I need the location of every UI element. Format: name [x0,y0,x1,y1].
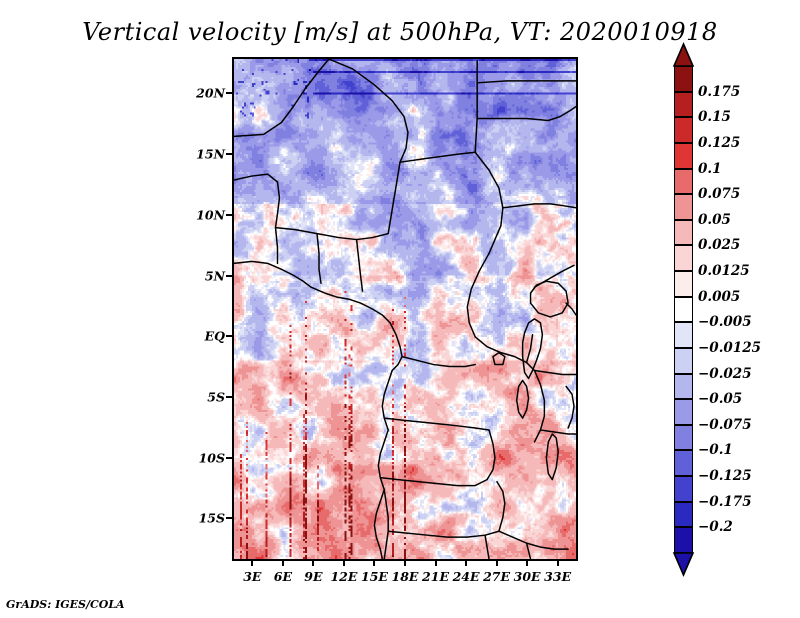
colorbar-band [674,245,693,271]
colorbar-band [674,450,693,476]
colorbar-band [674,348,693,374]
colorbar-band [674,194,693,220]
colorbar-band [674,399,693,425]
y-axis-tick-mark [226,335,232,337]
x-axis-tick-mark [404,561,406,566]
colorbar-min-arrow [674,553,693,575]
colorbar-band [674,527,693,553]
colorbar: 0.1750.150.1250.10.0750.050.0250.01250.0… [674,66,693,553]
colorbar-max-arrow [674,44,693,66]
colorbar-band [674,476,693,502]
x-axis-tick-mark [526,561,528,566]
colorbar-band [674,66,693,92]
colorbar-band [674,297,693,323]
x-axis-tick-mark [251,561,253,566]
plot-frame [232,57,578,561]
colorbar-tick-label: −0.175 [698,494,752,510]
x-axis-tick-mark [373,561,375,566]
x-axis-tick-mark [465,561,467,566]
colorbar-band [674,271,693,297]
colorbar-band [674,143,693,169]
y-axis-tick-mark [226,153,232,155]
colorbar-tick-label: 0.005 [698,289,740,305]
x-axis-tick-mark [282,561,284,566]
x-axis-tick-mark [435,561,437,566]
x-axis-tick-mark [496,561,498,566]
colorbar-tick-label: −0.125 [698,468,752,484]
country-borders-overlay [234,59,576,559]
x-axis-tick-mark [343,561,345,566]
x-axis-tick-mark [312,561,314,566]
colorbar-tick-label: −0.025 [698,366,752,382]
colorbar-tick-label: 0.05 [698,212,731,228]
colorbar-tick-label: −0.1 [698,442,733,458]
colorbar-band [674,425,693,451]
colorbar-band [674,169,693,195]
colorbar-band [674,502,693,528]
plot-area: 20N15N10N5NEQ5S10S15S3E6E9E12E15E18E21E2… [232,57,578,561]
y-axis-tick-mark [226,275,232,277]
colorbar-band [674,220,693,246]
colorbar-tick-label: −0.05 [698,391,742,407]
colorbar-tick-label: 0.1 [698,161,722,177]
page-title: Vertical velocity [m/s] at 500hPa, VT: 2… [0,18,800,46]
y-axis-tick-mark [226,517,232,519]
colorbar-band [674,117,693,143]
colorbar-band [674,374,693,400]
y-axis-tick-mark [226,214,232,216]
colorbar-tick-label: 0.15 [698,109,731,125]
colorbar-tick-label: −0.075 [698,417,752,433]
colorbar-tick-label: 0.075 [698,186,740,202]
colorbar-tick-label: −0.005 [698,314,752,330]
y-axis-tick-mark [226,457,232,459]
colorbar-band [674,322,693,348]
colorbar-tick-label: 0.025 [698,237,740,253]
colorbar-tick-label: 0.175 [698,84,740,100]
colorbar-tick-label: −0.0125 [698,340,761,356]
y-axis-tick-mark [226,396,232,398]
y-axis-tick-mark [226,92,232,94]
colorbar-tick-label: 0.0125 [698,263,750,279]
source-credit: GrADS: IGES/COLA [6,598,125,611]
colorbar-tick-label: 0.125 [698,135,740,151]
colorbar-band [674,92,693,118]
x-axis-tick-mark [557,561,559,566]
colorbar-tick-label: −0.2 [698,519,733,535]
